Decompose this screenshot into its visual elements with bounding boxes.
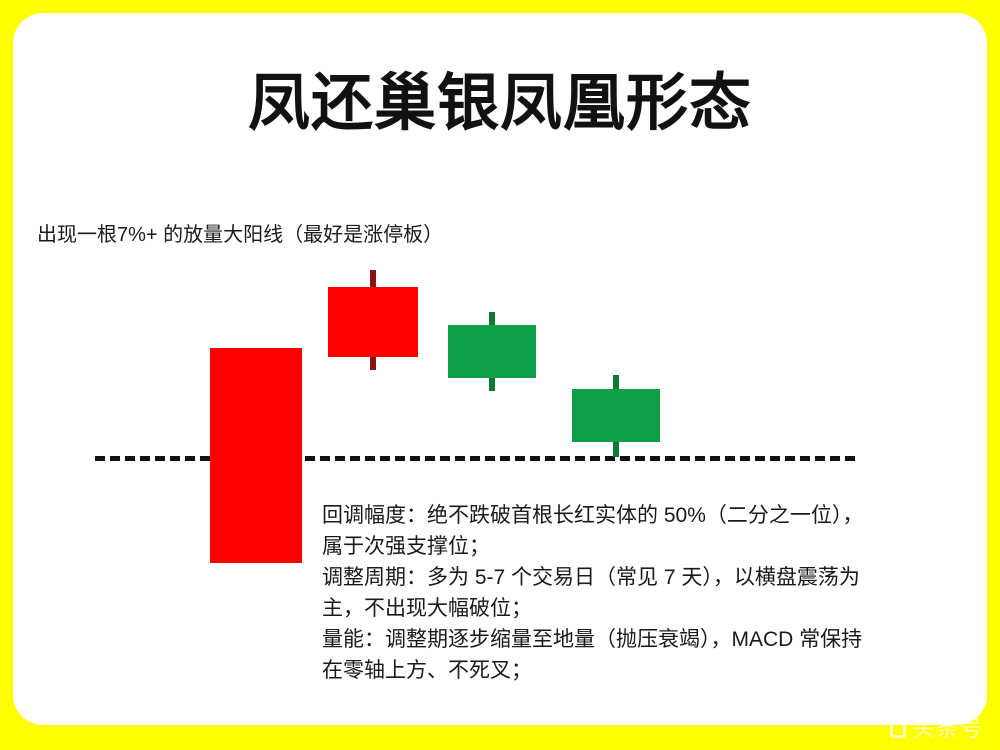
candle-wick	[489, 312, 495, 391]
candle-3-down	[448, 312, 536, 391]
candle-body	[572, 389, 660, 442]
support-level-line	[95, 456, 855, 461]
candle-body	[328, 287, 418, 357]
candle-body	[210, 348, 302, 563]
watermark: 头条号	[890, 716, 984, 742]
description-line: 在零轴上方、不死叉；	[322, 655, 972, 686]
candle-body	[448, 325, 536, 378]
page-title: 凤还巢银凤凰形态	[13, 68, 987, 140]
candle-1-up	[210, 348, 302, 563]
watermark-label: 头条号	[912, 716, 984, 742]
description-paragraph: 回调幅度：绝不跌破首根长红实体的 50%（二分之一位），属于次强支撑位；调整周期…	[322, 500, 972, 686]
candle-wick	[613, 375, 619, 457]
description-line: 属于次强支撑位；	[322, 531, 972, 562]
candle-wick	[370, 270, 376, 370]
description-line: 调整周期：多为 5-7 个交易日（常见 7 天），以横盘震荡为	[322, 562, 972, 593]
subtitle-annotation: 出现一根7%+ 的放量大阳线（最好是涨停板）	[37, 220, 443, 250]
candle-2-up	[328, 270, 418, 370]
white-card: 凤还巢银凤凰形态 出现一根7%+ 的放量大阳线（最好是涨停板） 回调幅度：绝不跌…	[13, 13, 987, 725]
watermark-icon	[890, 720, 906, 738]
description-line: 回调幅度：绝不跌破首根长红实体的 50%（二分之一位），	[322, 500, 972, 531]
description-line: 主，不出现大幅破位；	[322, 593, 972, 624]
poster-canvas: 凤还巢银凤凰形态 出现一根7%+ 的放量大阳线（最好是涨停板） 回调幅度：绝不跌…	[0, 0, 1000, 750]
description-line: 量能：调整期逐步缩量至地量（抛压衰竭），MACD 常保持	[322, 624, 972, 655]
candle-wick	[253, 348, 259, 563]
candle-4-down	[572, 375, 660, 457]
